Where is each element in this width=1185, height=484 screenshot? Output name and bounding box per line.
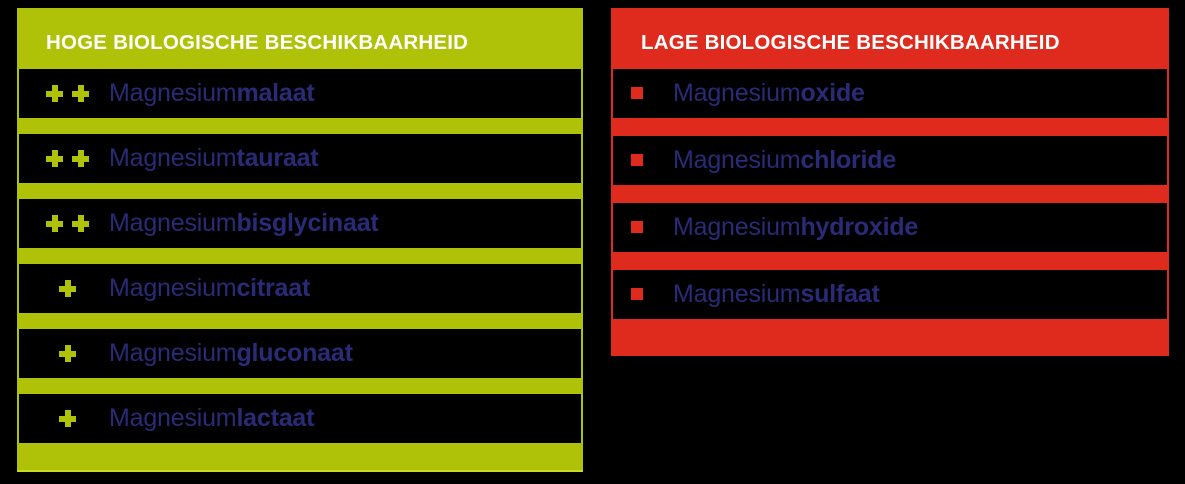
row-label-prefix: Magnesium (673, 79, 800, 107)
panel-low-heading: LAGE BIOLOGISCHE BESCHIKBAARHEID (611, 8, 1169, 54)
row-label-compound: citraat (236, 274, 310, 302)
row-rating-markers (613, 288, 673, 300)
row-label-prefix: Magnesium (673, 213, 800, 241)
table-row: Magnesiumtauraat (19, 134, 581, 183)
row-label-prefix: Magnesium (109, 404, 236, 432)
table-row: Magnesiumlactaat (19, 394, 581, 443)
panel-high-heading: HOGE BIOLOGISCHE BESCHIKBAARHEID (17, 8, 583, 54)
row-label: Magnesiumsulfaat (673, 282, 1167, 307)
square-bullet-icon (631, 154, 643, 166)
row-label-compound: hydroxide (800, 213, 918, 241)
row-label: Magnesiumcitraat (109, 276, 581, 301)
row-label: Magnesiumtauraat (109, 146, 581, 171)
plus-icon (72, 150, 89, 167)
panel-low-row-list: MagnesiumoxideMagnesiumchlorideMagnesium… (611, 69, 1169, 357)
plus-icon (46, 85, 63, 102)
row-label-compound: lactaat (236, 404, 314, 432)
plus-icon (46, 150, 63, 167)
row-label: Magnesiumlactaat (109, 406, 581, 431)
row-rating-markers (613, 221, 673, 233)
plus-icon (59, 345, 76, 362)
row-rating-markers (19, 345, 109, 362)
square-bullet-icon (631, 87, 643, 99)
row-label-prefix: Magnesium (109, 144, 236, 172)
square-bullet-icon (631, 221, 643, 233)
table-row: Magnesiumchloride (613, 136, 1167, 185)
panel-high-baseline (17, 470, 583, 472)
plus-icon (59, 410, 76, 427)
row-label: Magnesiumbisglycinaat (109, 211, 581, 236)
row-label: Magnesiumgluconaat (109, 341, 581, 366)
table-row: Magnesiummalaat (19, 69, 581, 118)
panel-low-bioavailability: LAGE BIOLOGISCHE BESCHIKBAARHEID Magnesi… (611, 8, 1169, 356)
row-label-compound: chloride (800, 146, 896, 174)
row-label-compound: oxide (800, 79, 864, 107)
table-row: Magnesiumoxide (613, 69, 1167, 118)
plus-icon (72, 85, 89, 102)
table-row: Magnesiumgluconaat (19, 329, 581, 378)
row-rating-markers (19, 85, 109, 102)
infographic-canvas: HOGE BIOLOGISCHE BESCHIKBAARHEID Magnesi… (0, 0, 1185, 484)
row-label-compound: gluconaat (236, 339, 352, 367)
row-label-prefix: Magnesium (109, 209, 236, 237)
row-label-prefix: Magnesium (673, 146, 800, 174)
plus-icon (72, 215, 89, 232)
row-label-prefix: Magnesium (109, 79, 236, 107)
row-label-prefix: Magnesium (109, 339, 236, 367)
row-rating-markers (19, 150, 109, 167)
row-label: Magnesiummalaat (109, 81, 581, 106)
row-rating-markers (613, 154, 673, 166)
row-rating-markers (19, 280, 109, 297)
row-rating-markers (19, 410, 109, 427)
row-label: Magnesiumchloride (673, 148, 1167, 173)
row-label-prefix: Magnesium (673, 280, 800, 308)
plus-icon (46, 215, 63, 232)
square-bullet-icon (631, 288, 643, 300)
table-row: Magnesiumsulfaat (613, 270, 1167, 319)
panel-high-row-list: MagnesiummalaatMagnesiumtauraatMagnesium… (17, 69, 583, 473)
row-label-compound: bisglycinaat (236, 209, 378, 237)
row-label: Magnesiumhydroxide (673, 215, 1167, 240)
row-rating-markers (19, 215, 109, 232)
plus-icon (59, 280, 76, 297)
table-row: Magnesiumhydroxide (613, 203, 1167, 252)
table-row: Magnesiumbisglycinaat (19, 199, 581, 248)
panel-high-bioavailability: HOGE BIOLOGISCHE BESCHIKBAARHEID Magnesi… (17, 8, 583, 472)
row-rating-markers (613, 87, 673, 99)
row-label-prefix: Magnesium (109, 274, 236, 302)
table-row: Magnesiumcitraat (19, 264, 581, 313)
row-label: Magnesiumoxide (673, 81, 1167, 106)
row-label-compound: tauraat (236, 144, 318, 172)
row-label-compound: sulfaat (800, 280, 879, 308)
row-label-compound: malaat (236, 79, 314, 107)
